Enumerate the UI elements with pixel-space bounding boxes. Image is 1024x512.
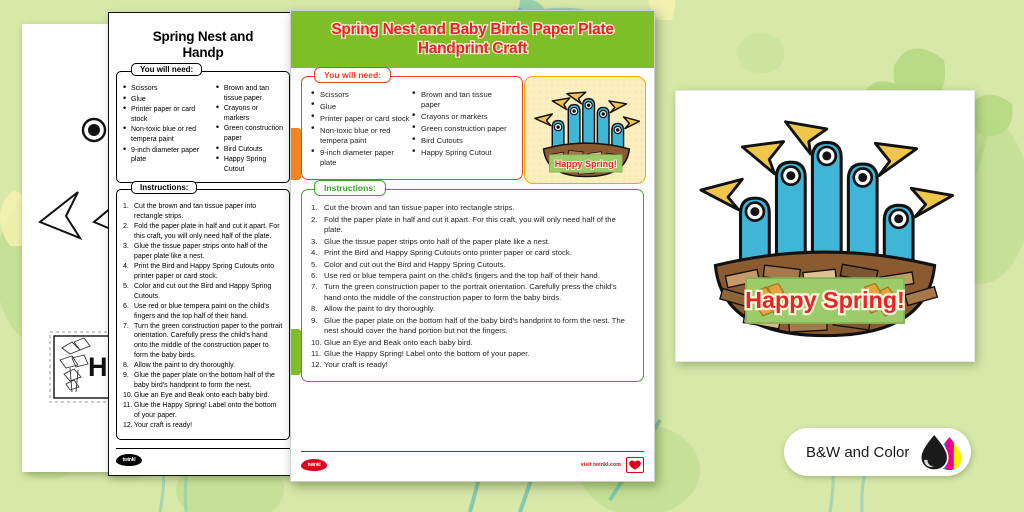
status-badge: B&W and Color bbox=[784, 428, 971, 476]
list-item: Fold the paper plate in half and cut it … bbox=[123, 222, 283, 241]
title-line-2: Handprint Craft bbox=[418, 40, 527, 57]
main-worksheet-card[interactable]: Spring Nest and Baby Birds Paper Plate H… bbox=[290, 10, 655, 482]
list-item: Happy Spring Cutout bbox=[216, 155, 283, 174]
bw-materials-panel: You will need: Scissors Glue Printer pap… bbox=[116, 71, 290, 183]
list-item: Use red or blue tempera paint on the chi… bbox=[123, 302, 283, 321]
twinkl-logo: twinkl bbox=[116, 454, 142, 466]
bw-sheet-title: Spring Nest and Handp bbox=[109, 13, 297, 65]
orange-edge-tab bbox=[290, 128, 301, 180]
list-item: Scissors bbox=[311, 90, 412, 100]
list-item: Turn the green construction paper to the… bbox=[123, 322, 283, 361]
craft-preview-thumbnail[interactable]: Happy Spring! bbox=[524, 76, 646, 184]
list-item: Print the Bird and Happy Spring Cutouts … bbox=[311, 248, 634, 259]
list-item: Turn the green construction paper to the… bbox=[311, 282, 634, 303]
craft-result-card[interactable]: Happy Spring! bbox=[675, 90, 975, 362]
bw-instructions-panel: Instructions: Cut the brown and tan tiss… bbox=[116, 189, 290, 439]
list-item: Glue an Eye and Beak onto each baby bird… bbox=[311, 338, 634, 349]
list-item: Scissors bbox=[123, 84, 208, 94]
bw-materials-col-2: Brown and tan tissue paper Crayons or ma… bbox=[216, 84, 283, 175]
preview-banner-text: Happy Spring! bbox=[555, 159, 617, 169]
list-item: Glue the paper plate on the bottom half … bbox=[123, 371, 283, 390]
title-line-1: Spring Nest and Baby Birds Paper Plate bbox=[331, 21, 613, 38]
list-item: Glue bbox=[311, 102, 412, 112]
list-item: Glue the tissue paper strips onto half o… bbox=[123, 242, 283, 261]
list-item: Non-toxic blue or red tempera paint bbox=[123, 125, 208, 144]
list-item: Glue the tissue paper strips onto half o… bbox=[311, 237, 634, 248]
list-item: Brown and tan tissue paper bbox=[216, 84, 283, 103]
list-item: Crayons or markers bbox=[412, 112, 513, 122]
list-item: Glue the Happy Spring! Label onto the bo… bbox=[311, 349, 634, 360]
card-header: Spring Nest and Baby Birds Paper Plate H… bbox=[291, 11, 654, 68]
bw-materials-heading: You will need: bbox=[131, 63, 202, 76]
list-item: Color and cut out the Bird and Happy Spr… bbox=[123, 282, 283, 301]
bw-instructions-heading: Instructions: bbox=[131, 181, 197, 194]
instructions-panel: Instructions: Cut the brown and tan tiss… bbox=[301, 189, 644, 381]
list-item: 9-inch diameter paper plate bbox=[311, 148, 412, 169]
list-item: Fold the paper plate in half and cut it … bbox=[311, 215, 634, 236]
list-item: Crayons or markers bbox=[216, 104, 283, 123]
list-item: Cut the brown and tan tissue paper into … bbox=[311, 203, 634, 214]
list-item: Allow the paint to dry thoroughly. bbox=[311, 304, 634, 315]
materials-col-1: Scissors Glue Printer paper or card stoc… bbox=[311, 90, 412, 170]
card-footer: twinkl visit twinkl.com bbox=[301, 451, 644, 473]
ink-drop-icon bbox=[919, 432, 963, 472]
twinkl-logo[interactable]: twinkl bbox=[301, 459, 327, 471]
materials-heading: You will need: bbox=[314, 67, 391, 83]
list-item: Printer paper or card stock bbox=[311, 114, 412, 124]
bw-worksheet-sheet[interactable]: Spring Nest and Handp You will need: Sci… bbox=[108, 12, 298, 476]
twinkl-stamp-icon bbox=[626, 457, 644, 473]
list-item: Glue the Happy Spring! Label onto the bo… bbox=[123, 401, 283, 420]
list-item: Printer paper or card stock bbox=[123, 105, 208, 124]
list-item: Print the Bird and Happy Spring Cutouts … bbox=[123, 262, 283, 281]
list-item: Bird Cutouts bbox=[216, 145, 283, 155]
bw-materials-col-1: Scissors Glue Printer paper or card stoc… bbox=[123, 84, 208, 175]
instructions-heading: Instructions: bbox=[314, 180, 386, 196]
badge-label: B&W and Color bbox=[806, 444, 909, 461]
list-item: Green construction paper bbox=[412, 124, 513, 134]
list-item: Green construction paper bbox=[216, 124, 283, 143]
bw-title-line-1: Spring Nest and bbox=[153, 29, 254, 44]
list-item: Happy Spring Cutout bbox=[412, 148, 513, 158]
bw-sheet-footer: twinkl bbox=[116, 448, 290, 466]
list-item: Allow the paint to dry thoroughly. bbox=[123, 361, 283, 371]
green-edge-tab bbox=[290, 329, 301, 375]
instructions-list: Cut the brown and tan tissue paper into … bbox=[311, 203, 634, 371]
list-item: Use red or blue tempera paint on the chi… bbox=[311, 271, 634, 282]
craft-result-artwork: Happy Spring! bbox=[690, 102, 960, 350]
list-item: Non-toxic blue or red tempera paint bbox=[311, 126, 412, 147]
list-item: Color and cut out the Bird and Happy Spr… bbox=[311, 260, 634, 271]
list-item: Glue bbox=[123, 95, 208, 105]
list-item: Cut the brown and tan tissue paper into … bbox=[123, 202, 283, 221]
list-item: Your craft is ready! bbox=[311, 360, 634, 371]
happy-spring-banner-text: Happy Spring! bbox=[745, 287, 905, 313]
page-title: Spring Nest and Baby Birds Paper Plate H… bbox=[305, 20, 640, 58]
list-item: Your craft is ready! bbox=[123, 421, 283, 431]
list-item: Glue the paper plate on the bottom half … bbox=[311, 316, 634, 337]
list-item: Glue an Eye and Beak onto each baby bird… bbox=[123, 391, 283, 401]
list-item: Brown and tan tissue paper bbox=[412, 90, 513, 111]
list-item: Bird Cutouts bbox=[412, 136, 513, 146]
preview-artwork: Happy Spring! bbox=[530, 82, 640, 178]
bw-instructions-list: Cut the brown and tan tissue paper into … bbox=[123, 202, 283, 431]
card-body: You will need: Scissors Glue Printer pap… bbox=[291, 68, 654, 382]
materials-panel: You will need: Scissors Glue Printer pap… bbox=[301, 76, 523, 180]
bw-title-line-2: Handp bbox=[183, 45, 224, 60]
materials-col-2: Brown and tan tissue paper Crayons or ma… bbox=[412, 90, 513, 170]
visit-url-text[interactable]: visit twinkl.com bbox=[581, 462, 621, 468]
list-item: 9-inch diameter paper plate bbox=[123, 146, 208, 165]
